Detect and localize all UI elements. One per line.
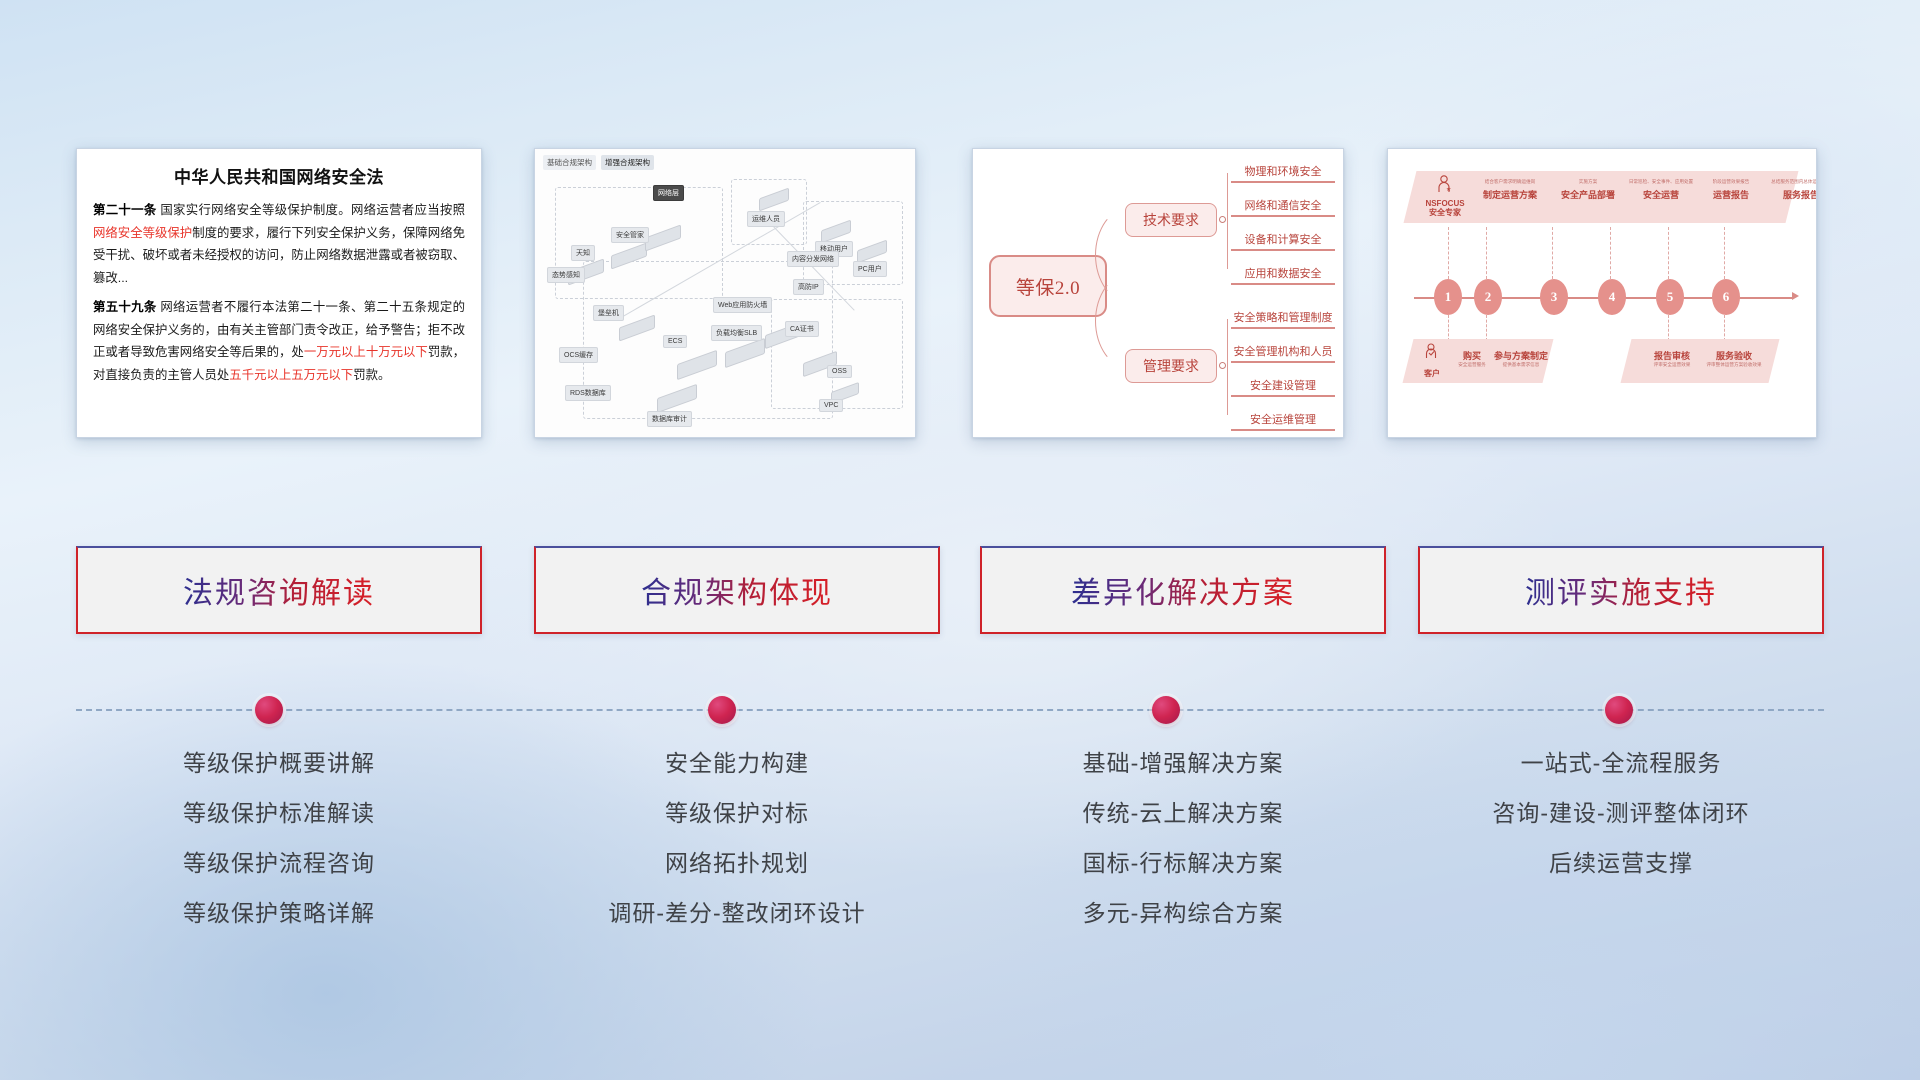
law-article-21: 第二十一条 国家实行网络安全等级保护制度。网络运营者应当按照网络安全等级保护制度…: [93, 199, 465, 289]
list-item: 网络拓扑规划: [534, 838, 940, 888]
law-article-59: 第五十九条 网络运营者不履行本法第二十一条、第二十五条规定的网络安全保护义务的，…: [93, 296, 465, 386]
cloud-architecture-card[interactable]: 基础合规架构 增强合规架构 网络层 安全管家: [534, 148, 916, 438]
timeline-dash-4: [1610, 227, 1611, 279]
mindmap-leaf-build-mgmt: 安全建设管理: [1231, 377, 1335, 397]
section-heading-regulation-consulting-label: 法规咨询解读: [183, 568, 375, 612]
section-heading-differentiated-solution-label: 差异化解决方案: [1071, 568, 1295, 612]
mindmap-bracket-mgmt: [1227, 319, 1228, 415]
timeline-top-item-5-main: 服务报告: [1756, 188, 1817, 201]
list-item: 等级保护流程咨询: [76, 838, 482, 888]
timeline-actor-expert: ★ NSFOCUS 安全专家: [1416, 175, 1474, 217]
timeline-node-1[interactable]: [255, 696, 283, 724]
timeline-top-band-labels: ★ NSFOCUS 安全专家 结合客户需求明确运维岗 制定运营方案 实施方案 安…: [1410, 171, 1792, 223]
architecture-node-rds: RDS数据库: [565, 385, 611, 401]
mindmap-collapse-dot-mgmt[interactable]: [1219, 362, 1226, 369]
timeline-top-item-2: 实施方案 安全产品部署: [1550, 179, 1626, 201]
law-article-59-highlight-2: 五千元以上五万元以下: [229, 368, 353, 382]
tab-basic-compliance[interactable]: 基础合规架构: [543, 155, 596, 170]
list-item: 等级保护策略详解: [76, 888, 482, 938]
timeline-dash-3: [1552, 227, 1553, 279]
svg-text:★: ★: [1446, 186, 1451, 193]
cloud-architecture-diagram: 基础合规架构 增强合规架构 网络层 安全管家: [535, 149, 915, 437]
timeline-dash-10: [1724, 315, 1725, 341]
law-article-21-highlight: 网络安全等级保护: [93, 226, 192, 240]
architecture-node-waf: Web应用防火墙: [713, 297, 772, 313]
list-item: 等级保护对标: [534, 788, 940, 838]
architecture-node-ocs: OCS缓存: [559, 347, 598, 363]
law-card[interactable]: 中华人民共和国网络安全法 第二十一条 国家实行网络安全等级保护制度。网络运营者应…: [76, 148, 482, 438]
timeline-actor-customer: 客户: [1412, 343, 1452, 379]
timeline-dash-5: [1668, 227, 1669, 279]
mindmap-collapse-dot-tech[interactable]: [1219, 216, 1226, 223]
architecture-node-cdn: 内容分发网络: [787, 251, 839, 267]
timeline-node-2[interactable]: [708, 696, 736, 724]
mindmap-leaf-app-data: 应用和数据安全: [1231, 265, 1335, 285]
timeline-bottom-item-2: 参与方案制定 提供基本需求信息: [1492, 345, 1550, 367]
timeline-step-2[interactable]: 2: [1474, 279, 1502, 315]
timeline-dash-1: [1448, 227, 1449, 279]
mindmap-leaf-network-comm: 网络和通信安全: [1231, 197, 1335, 217]
timeline-step-6[interactable]: 6: [1712, 279, 1740, 315]
architecture-node-ops-staff: 运维人员: [747, 211, 785, 227]
person-star-icon: ★: [1437, 175, 1453, 193]
architecture-node-security-butler: 安全管家: [611, 227, 649, 243]
timeline-bottom-item-4: 服务验收 评审整体运营方案验收效果: [1702, 345, 1766, 367]
reference-cards-row: 中华人民共和国网络安全法 第二十一条 国家实行网络安全等级保护制度。网络运营者应…: [0, 148, 1920, 438]
mindmap-leaf-physical-env: 物理和环境安全: [1231, 163, 1335, 183]
list-item: 后续运营支撑: [1418, 838, 1824, 888]
section-heading-differentiated-solution[interactable]: 差异化解决方案: [980, 546, 1386, 634]
law-article-59-highlight-1: 一万元以上十万元以下: [304, 345, 428, 359]
law-card-body: 中华人民共和国网络安全法 第二十一条 国家实行网络安全等级保护制度。网络运营者应…: [77, 149, 481, 404]
process-timeline: [0, 692, 1920, 728]
timeline-dash-9: [1668, 315, 1669, 341]
list-item: 等级保护概要讲解: [76, 738, 482, 788]
dengbao-mindmap-card[interactable]: 等保2.0 技术要求 管理要求 物理和环境安全 网络和通信安全 设备和计算安全 …: [972, 148, 1344, 438]
list-item: 调研-差分-整改闭环设计: [534, 888, 940, 938]
mindmap-branch-technical: 技术要求: [1125, 203, 1217, 237]
architecture-node-vpc: VPC: [819, 399, 843, 412]
timeline-dash-8: [1486, 315, 1487, 341]
list-item: 一站式-全流程服务: [1418, 738, 1824, 788]
architecture-tabs[interactable]: 基础合规架构 增强合规架构: [543, 155, 654, 170]
architecture-node-bastion: 堡垒机: [593, 305, 624, 321]
architecture-node-ca: CA证书: [785, 321, 819, 337]
timeline-dashed-line: [76, 709, 1824, 711]
timeline-bottom-item-4-main: 服务验收: [1702, 349, 1766, 362]
timeline-bottom-item-2-sub: 提供基本需求信息: [1492, 362, 1550, 367]
timeline-bottom-right-labels: 报告审核 评审安全运营效果 服务验收 评审整体运营方案验收效果: [1626, 339, 1774, 383]
timeline-top-item-2-sub: 实施方案: [1550, 179, 1626, 184]
detail-column-differentiated-solution: 基础-增强解决方案 传统-云上解决方案 国标-行标解决方案 多元-异构综合方案: [980, 738, 1386, 938]
mindmap-leaf-ops-mgmt: 安全运维管理: [1231, 411, 1335, 431]
timeline-step-3[interactable]: 3: [1540, 279, 1568, 315]
timeline-actor-expert-line2: 安全专家: [1416, 208, 1474, 217]
timeline-step-5[interactable]: 5: [1656, 279, 1684, 315]
timeline-actor-expert-line1: NSFOCUS: [1416, 199, 1474, 208]
dengbao-mindmap: 等保2.0 技术要求 管理要求 物理和环境安全 网络和通信安全 设备和计算安全 …: [973, 149, 1343, 437]
law-article-21-label: 第二十一条: [93, 203, 157, 217]
list-item: 等级保护标准解读: [76, 788, 482, 838]
tab-enhanced-compliance[interactable]: 增强合规架构: [601, 155, 654, 170]
timeline-bottom-item-4-sub: 评审整体运营方案验收效果: [1702, 362, 1766, 367]
timeline-bottom-item-3-main: 报告审核: [1644, 349, 1700, 362]
mindmap-leaf-policy-system: 安全策略和管理制度: [1231, 309, 1335, 329]
mindmap-leaf-device-compute: 设备和计算安全: [1231, 231, 1335, 251]
nsfocus-timeline: ★ NSFOCUS 安全专家 结合客户需求明确运维岗 制定运营方案 实施方案 安…: [1388, 149, 1816, 437]
timeline-bottom-item-3-sub: 评审安全运营效果: [1644, 362, 1700, 367]
detail-column-assessment-support: 一站式-全流程服务 咨询-建设-测评整体闭环 后续运营支撑: [1418, 738, 1824, 888]
list-item: 安全能力构建: [534, 738, 940, 788]
architecture-node-tianzhi: 天知: [571, 245, 595, 261]
detail-column-regulation-consulting: 等级保护概要讲解 等级保护标准解读 等级保护流程咨询 等级保护策略详解: [76, 738, 482, 938]
mindmap-branch-management: 管理要求: [1125, 349, 1217, 383]
architecture-node-oss: OSS: [827, 365, 852, 378]
timeline-bottom-item-1-sub: 安全运营服务: [1448, 362, 1496, 367]
nsfocus-service-timeline-card[interactable]: ★ NSFOCUS 安全专家 结合客户需求明确运维岗 制定运营方案 实施方案 安…: [1387, 148, 1817, 438]
list-item: 传统-云上解决方案: [980, 788, 1386, 838]
timeline-top-item-1-main: 制定运营方案: [1472, 188, 1548, 201]
architecture-node-anti-ddos: 高防IP: [793, 279, 824, 295]
list-item: 国标-行标解决方案: [980, 838, 1386, 888]
timeline-top-item-5-sub: 总结服务范围内总体运营效果: [1756, 179, 1817, 184]
person-check-icon: [1425, 343, 1439, 359]
architecture-node-ecs: ECS: [663, 335, 687, 348]
timeline-dash-6: [1724, 227, 1725, 279]
timeline-bottom-left-labels: 客户 购买 安全运营服务 参与方案制定 提供基本需求信息: [1408, 339, 1548, 383]
timeline-dash-2: [1486, 227, 1487, 279]
timeline-top-item-5: 总结服务范围内总体运营效果 服务报告: [1756, 179, 1817, 201]
timeline-step-4[interactable]: 4: [1598, 279, 1626, 315]
law-card-title: 中华人民共和国网络安全法: [93, 163, 465, 188]
section-headings-row: 法规咨询解读 合规架构体现 差异化解决方案 测评实施支持: [0, 546, 1920, 634]
law-article-21-text-1: 国家实行网络安全等级保护制度。网络运营者应当按照: [160, 203, 465, 217]
list-item: 基础-增强解决方案: [980, 738, 1386, 788]
architecture-node-db-audit: 数据库审计: [647, 411, 692, 427]
section-heading-assessment-support-label: 测评实施支持: [1525, 568, 1717, 612]
list-item: 多元-异构综合方案: [980, 888, 1386, 938]
mindmap-leaf-org-personnel: 安全管理机构和人员: [1231, 343, 1335, 363]
timeline-bottom-item-1-main: 购买: [1448, 349, 1496, 362]
list-item: 咨询-建设-测评整体闭环: [1418, 788, 1824, 838]
section-heading-compliance-architecture-label: 合规架构体现: [641, 568, 833, 612]
timeline-dash-7: [1448, 315, 1449, 341]
timeline-bottom-item-2-main: 参与方案制定: [1492, 349, 1550, 362]
timeline-top-item-2-main: 安全产品部署: [1550, 188, 1626, 201]
section-heading-compliance-architecture[interactable]: 合规架构体现: [534, 546, 940, 634]
architecture-node-situational: 态势感知: [547, 267, 585, 283]
architecture-node-network-layer: 网络层: [653, 185, 684, 201]
section-heading-regulation-consulting[interactable]: 法规咨询解读: [76, 546, 482, 634]
timeline-bottom-item-1: 购买 安全运营服务: [1448, 345, 1496, 367]
mindmap-bracket-tech: [1227, 173, 1228, 269]
timeline-node-3[interactable]: [1152, 696, 1180, 724]
architecture-node-slb: 负载均衡SLB: [711, 325, 762, 341]
timeline-arrow-icon: [1792, 292, 1799, 300]
detail-column-compliance-architecture: 安全能力构建 等级保护对标 网络拓扑规划 调研-差分-整改闭环设计: [534, 738, 940, 938]
timeline-top-item-1: 结合客户需求明确运维岗 制定运营方案: [1472, 179, 1548, 201]
timeline-step-1[interactable]: 1: [1434, 279, 1462, 315]
mindmap-root-node: 等保2.0: [989, 255, 1107, 317]
timeline-bottom-item-3: 报告审核 评审安全运营效果: [1644, 345, 1700, 367]
timeline-node-4[interactable]: [1605, 696, 1633, 724]
section-heading-assessment-support[interactable]: 测评实施支持: [1418, 546, 1824, 634]
timeline-actor-customer-label: 客户: [1412, 368, 1452, 379]
timeline-top-item-1-sub: 结合客户需求明确运维岗: [1472, 179, 1548, 184]
law-article-59-text-3: 罚款。: [353, 368, 390, 382]
architecture-node-pc-user: PC用户: [853, 261, 887, 277]
law-article-59-label: 第五十九条: [93, 300, 157, 314]
